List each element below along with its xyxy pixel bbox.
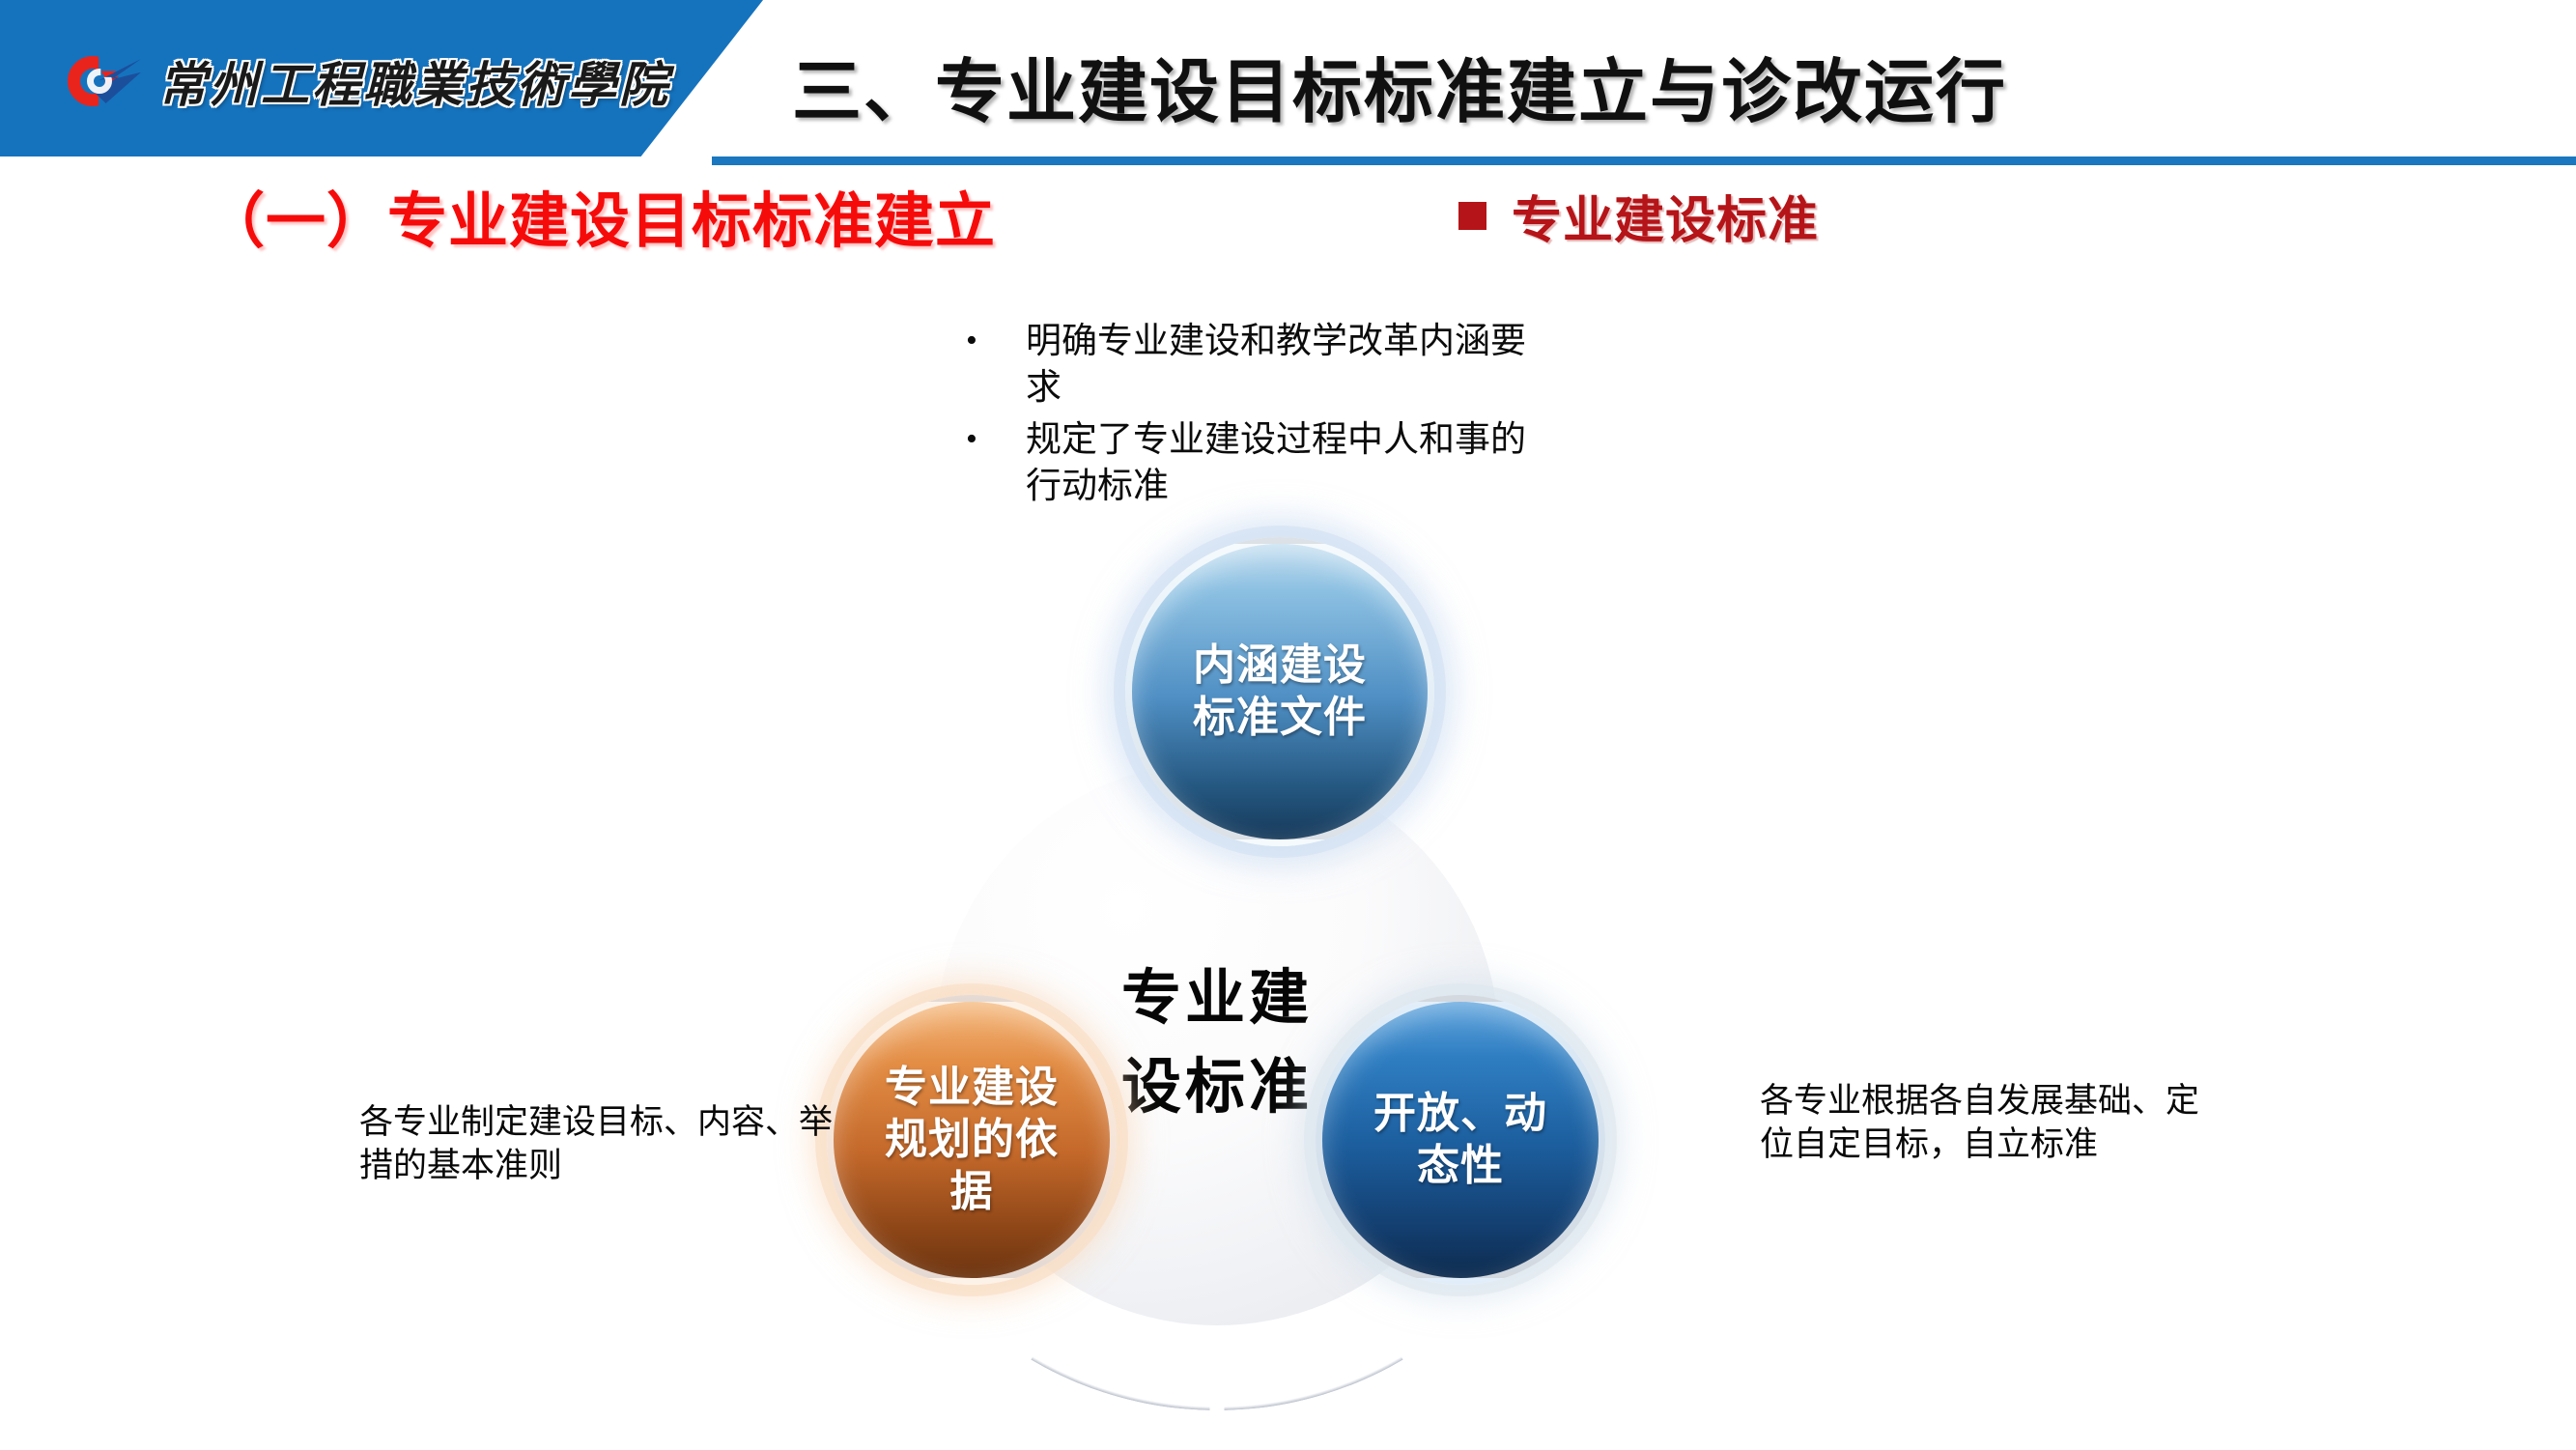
section-subtitle-right-label: 专业建设标准 — [1512, 180, 1819, 252]
diagram-node-top-label: 内涵建设标准文件 — [1168, 640, 1392, 743]
square-bullet-icon — [1458, 202, 1486, 230]
bullet-list: • 明确专业建设和教学改革内涵要求 • 规定了专业建设过程中人和事的行动标准 — [966, 319, 1545, 516]
venn-ring-diagram: 专业建 设标准 内涵建设标准文件 专业建设规划的依据 开放、动态性 — [850, 676, 1584, 1410]
diagram-node-left[interactable]: 专业建设规划的依据 — [827, 995, 1117, 1285]
list-item: • 明确专业建设和教学改革内涵要求 — [966, 319, 1545, 412]
list-item-text: 明确专业建设和教学改革内涵要求 — [1026, 319, 1545, 412]
bullet-dot-icon: • — [966, 417, 1026, 462]
diagram-node-left-label: 专业建设规划的依据 — [860, 1062, 1084, 1217]
annotation-right: 各专业根据各自发展基础、定位自定目标，自立标准 — [1760, 1080, 2214, 1167]
diagram-node-right[interactable]: 开放、动态性 — [1316, 995, 1605, 1285]
institute-emblem-icon — [66, 51, 141, 111]
slide-canvas: 常州工程職業技術學院 三、专业建设目标标准建立与诊改运行 （一）专业建设目标标准… — [0, 0, 2576, 1450]
diagram-node-top[interactable]: 内涵建设标准文件 — [1125, 537, 1434, 846]
annotation-left: 各专业制定建设目标、内容、举措的基本准则 — [359, 1101, 842, 1188]
section-subtitle-right: 专业建设标准 — [1458, 180, 1819, 252]
title-underline-rule — [712, 156, 2576, 165]
bullet-dot-icon: • — [966, 319, 1026, 363]
diagram-node-right-label: 开放、动态性 — [1348, 1088, 1572, 1191]
list-item-text: 规定了专业建设过程中人和事的行动标准 — [1026, 417, 1545, 510]
list-item: • 规定了专业建设过程中人和事的行动标准 — [966, 417, 1545, 510]
institution-name: 常州工程職業技術學院 — [158, 46, 670, 116]
slide-title: 三、专业建设目标标准建立与诊改运行 — [792, 35, 2007, 136]
section-subtitle-left: （一）专业建设目标标准建立 — [205, 172, 996, 259]
institution-logo: 常州工程職業技術學院 — [66, 46, 684, 116]
